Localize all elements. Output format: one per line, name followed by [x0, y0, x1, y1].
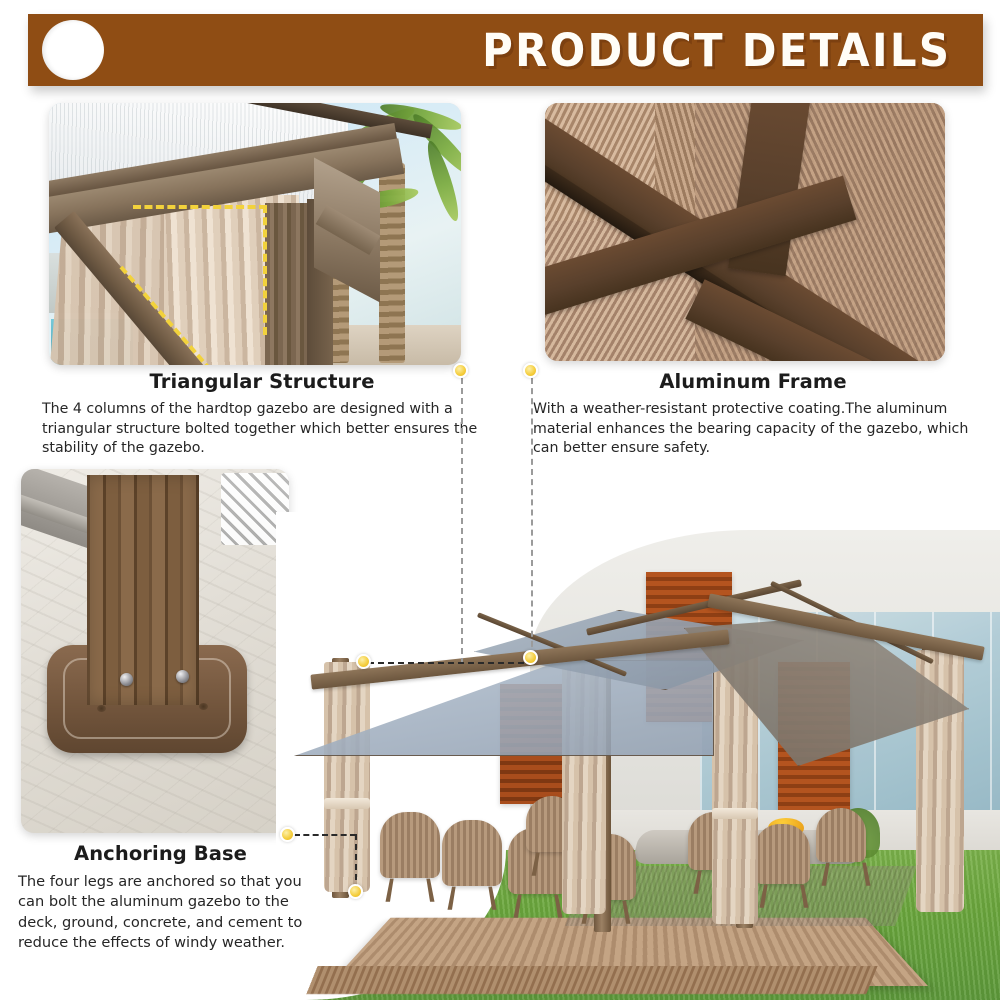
caption-triangular-structure: Triangular Structure The 4 columns of th…: [42, 370, 482, 459]
connector-dot-triangular-target: [356, 654, 371, 669]
caption-body: The four legs are anchored so that you c…: [18, 872, 303, 954]
triangle-highlight-overlay: [127, 205, 267, 335]
corner-post: [265, 203, 307, 365]
main-gazebo-photo: [276, 512, 1000, 1000]
connector-line-aluminum: [531, 378, 533, 657]
caption-title: Triangular Structure: [42, 370, 482, 393]
dining-chair: [380, 812, 440, 878]
caption-body: With a weather-resistant protective coat…: [533, 400, 973, 459]
highlight-edge-top: [133, 205, 267, 209]
curtain-tieback: [712, 808, 758, 819]
caption-body: The 4 columns of the hardtop gazebo are …: [42, 400, 482, 459]
banner-bar: PRODUCT DETAILS: [28, 14, 983, 86]
chair-legs: [448, 887, 497, 910]
triangular-structure-photo: [49, 103, 461, 365]
connector-line-roof-edge: [368, 662, 524, 664]
chair-legs: [760, 885, 809, 908]
highlight-edge-right: [263, 205, 267, 335]
dining-chair: [754, 824, 810, 884]
caption-aluminum-frame: Aluminum Frame With a weather-resistant …: [533, 370, 973, 459]
connector-line-triangular: [461, 378, 463, 664]
chair-legs: [386, 879, 435, 902]
connector-dot-anchor-source: [280, 827, 295, 842]
header-banner: PRODUCT DETAILS: [0, 0, 1000, 100]
caption-anchoring-base: Anchoring Base The four legs are anchore…: [18, 842, 303, 954]
anchor-hole: [97, 705, 106, 712]
anchoring-base-photo: [21, 469, 289, 833]
dining-chair: [442, 820, 502, 886]
gazebo-roof: [294, 564, 954, 750]
connector-line-anchor-horizontal: [294, 834, 356, 836]
caption-title: Aluminum Frame: [533, 370, 973, 393]
anchor-bolt: [120, 673, 133, 686]
anchor-bolt: [176, 670, 189, 683]
connector-dot-anchor-target: [348, 884, 363, 899]
connector-dot-aluminum-target: [523, 650, 538, 665]
page-title: PRODUCT DETAILS: [95, 14, 983, 86]
curtain-tieback: [324, 798, 370, 809]
anchor-hole: [199, 703, 208, 710]
connector-line-anchor-vertical: [355, 834, 357, 890]
connector-dot-aluminum-top: [523, 363, 538, 378]
dining-chair: [816, 808, 866, 862]
caption-title: Anchoring Base: [18, 842, 303, 865]
deck-edge: [306, 966, 877, 994]
connector-dot-triangular-top: [453, 363, 468, 378]
chair-legs: [514, 895, 563, 918]
chair-legs: [822, 863, 871, 886]
infographic-page: PRODUCT DETAILS: [0, 0, 1000, 1000]
aluminum-frame-photo: [545, 103, 945, 361]
